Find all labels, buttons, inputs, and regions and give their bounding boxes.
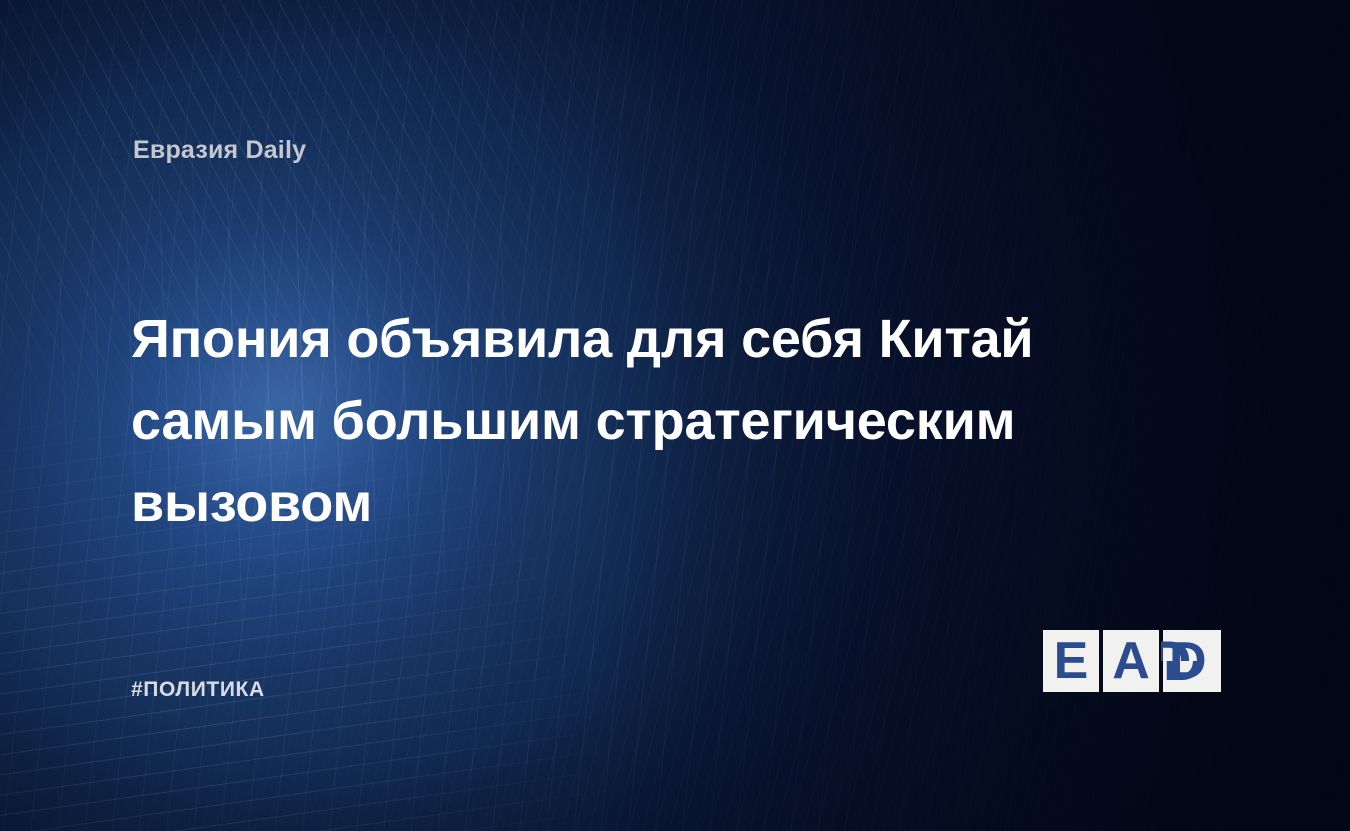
- category-tag[interactable]: #ПОЛИТИКА: [131, 678, 265, 702]
- logo-tile-a: A: [1103, 630, 1159, 692]
- logo-letter-e: E: [1054, 635, 1089, 687]
- news-social-card: Евразия Daily Япония объявила для себя К…: [0, 0, 1350, 831]
- logo-d-overhang-top: D: [1161, 630, 1223, 661]
- logo-letter-d-overhang-lower: D: [1163, 661, 1203, 692]
- logo-tile-e: E: [1043, 630, 1099, 692]
- page-title: Япония объявила для себя Китай самым бол…: [131, 298, 1061, 544]
- card-content: Евразия Daily Япония объявила для себя К…: [0, 0, 1350, 831]
- logo-d-overhang: D D: [1161, 630, 1223, 692]
- logo-letter-d-overhang-upper: D: [1161, 630, 1191, 661]
- brand-name: Евразия Daily: [133, 136, 306, 165]
- logo-letter-a: A: [1112, 635, 1150, 687]
- logo-d-overhang-bottom: D: [1161, 661, 1223, 692]
- eadaily-logo: E A D D D D: [1043, 630, 1223, 692]
